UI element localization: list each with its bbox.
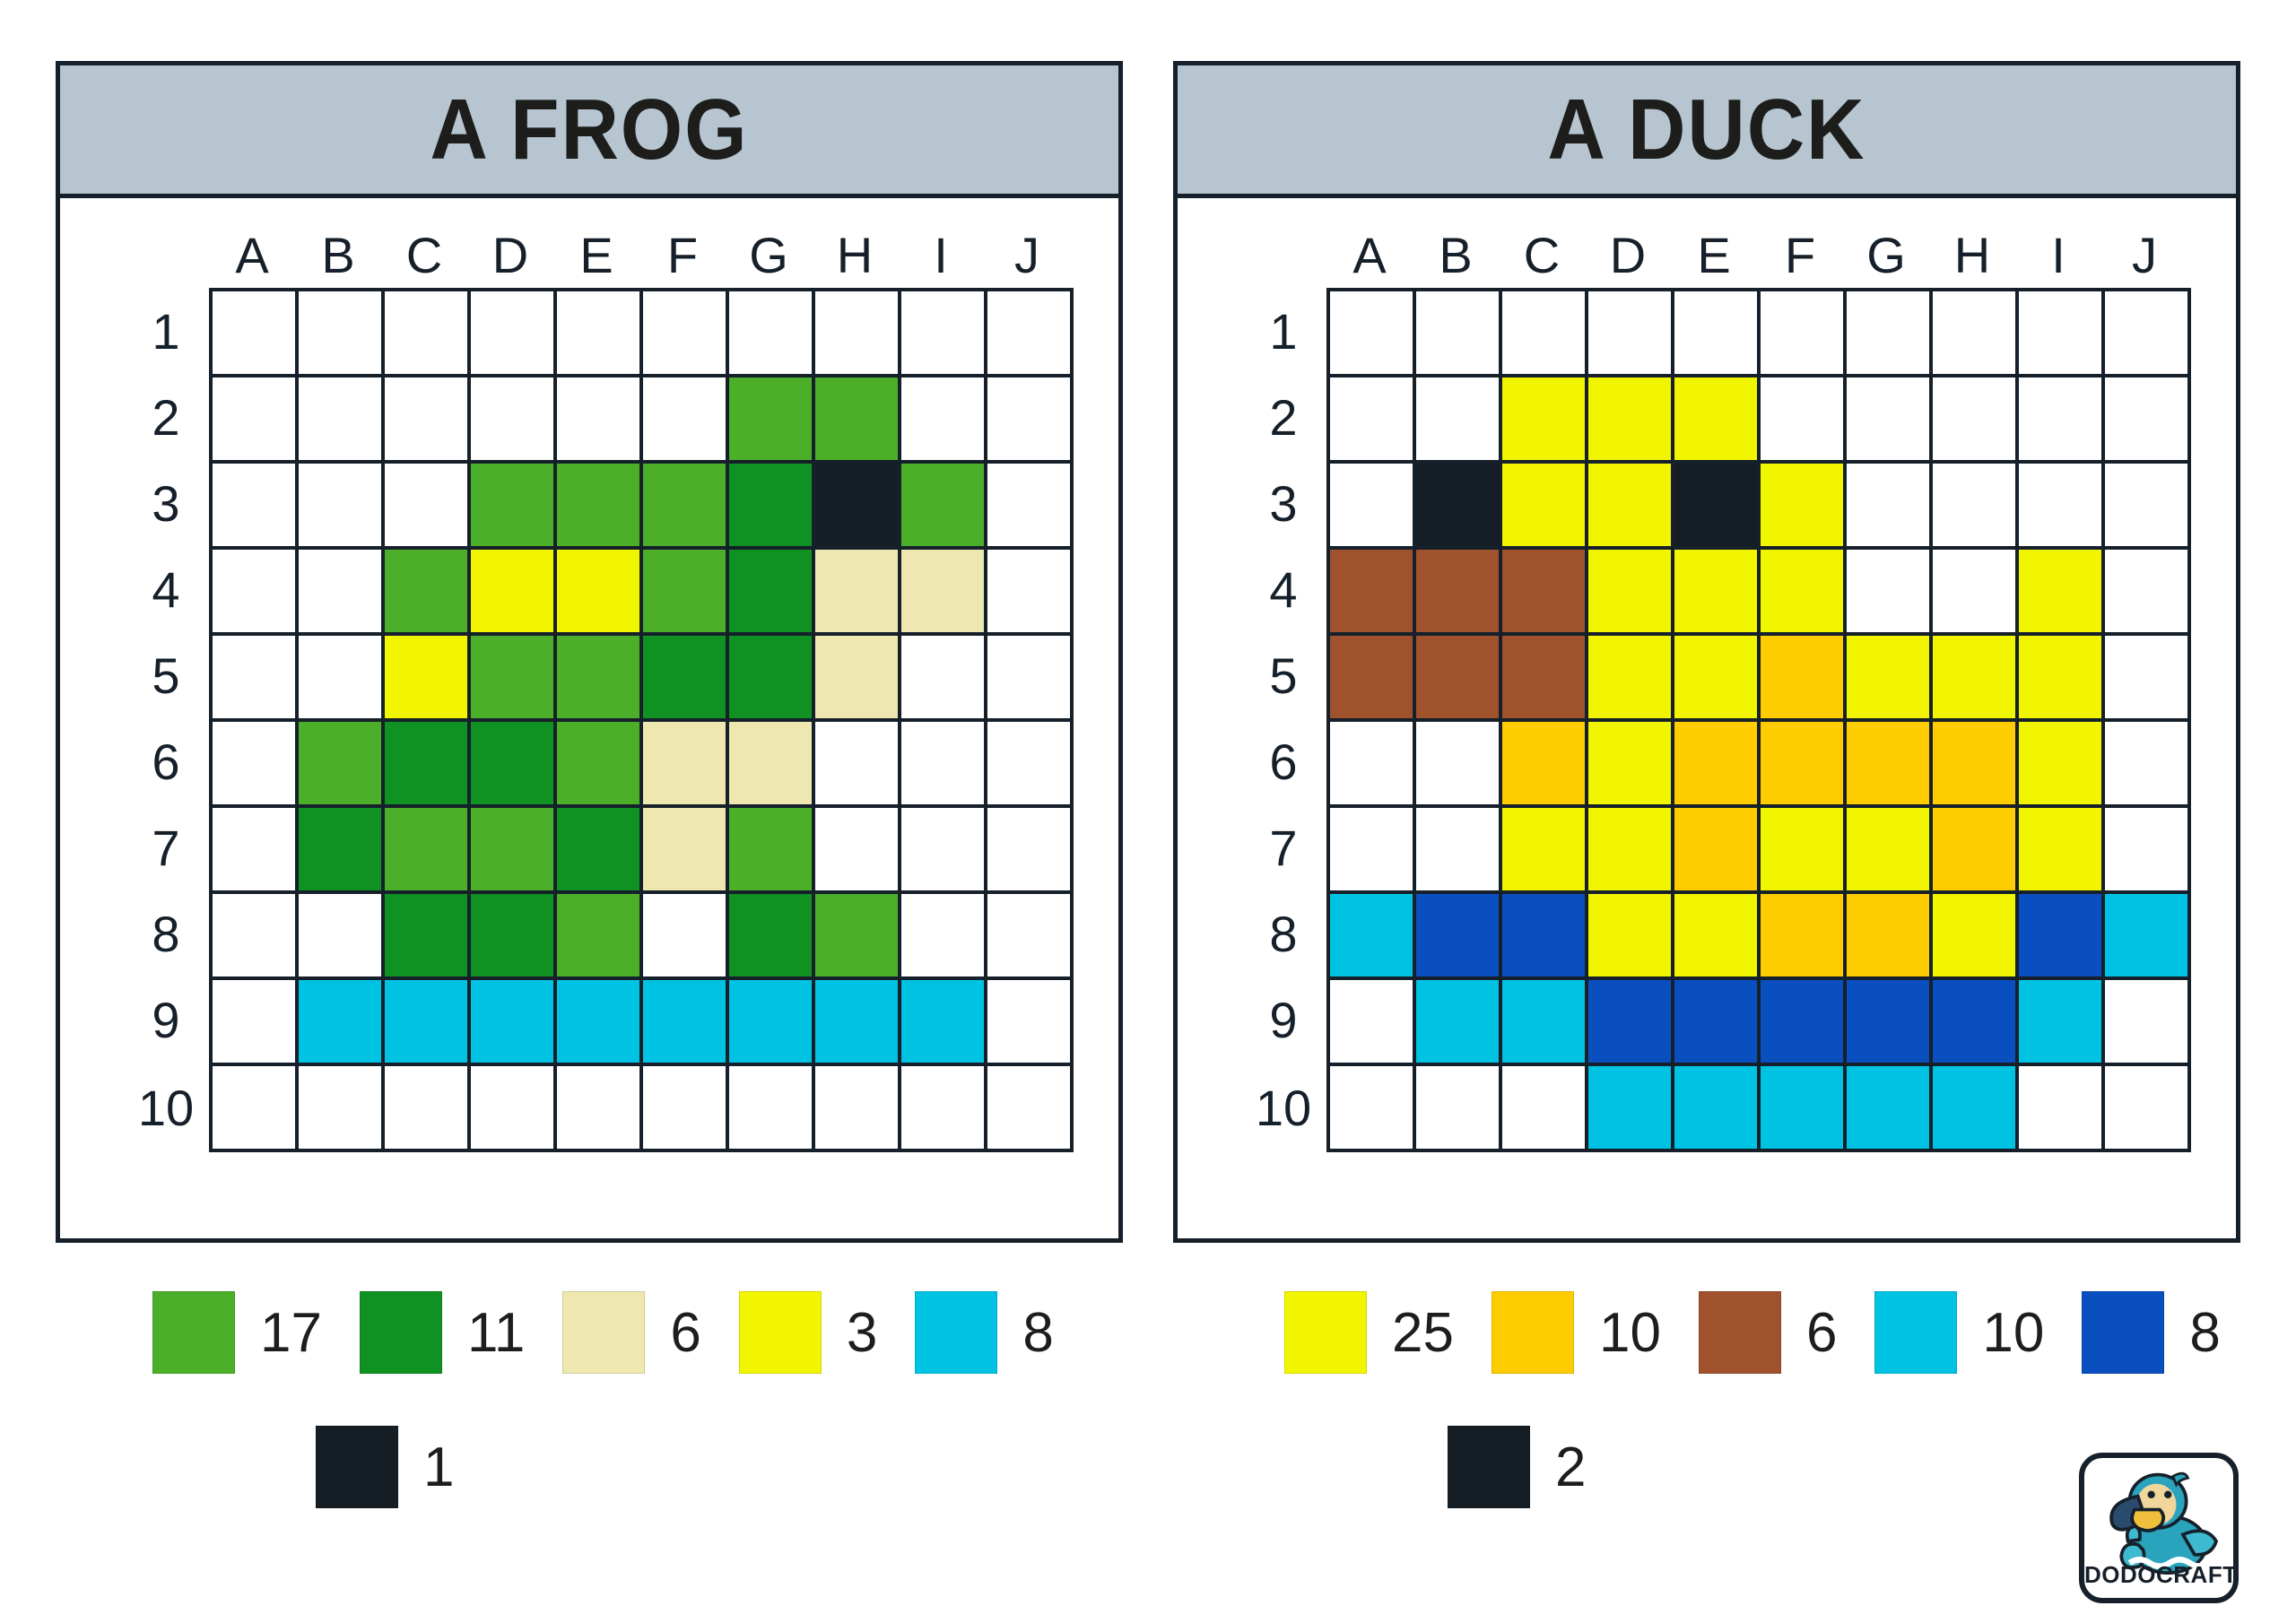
grid-row-cells — [1326, 546, 2191, 632]
grid-cell-H5[interactable] — [815, 636, 901, 718]
grid-cell-E6[interactable] — [557, 722, 643, 804]
column-header-frog-C: C — [381, 226, 467, 284]
grid-cell-H9[interactable] — [815, 980, 901, 1063]
grid-cell-G8[interactable] — [729, 894, 815, 976]
grid-cell-C8[interactable] — [1502, 894, 1588, 976]
grid-cell-H2[interactable] — [1933, 378, 2019, 460]
grid-cell-A7[interactable] — [1330, 808, 1416, 890]
logo-wordmark: DODOCRAFT — [2084, 1561, 2233, 1589]
grid-cell-B10[interactable] — [299, 1066, 385, 1149]
grid-cell-I2[interactable] — [2019, 378, 2105, 460]
grid-cell-A1[interactable] — [213, 291, 299, 374]
grid-cell-A5[interactable] — [1330, 636, 1416, 718]
grid-cell-C10[interactable] — [385, 1066, 471, 1149]
grid-cell-G6[interactable] — [1847, 722, 1933, 804]
grid-cell-D2[interactable] — [471, 378, 557, 460]
grid-cell-D2[interactable] — [1588, 378, 1674, 460]
legend-item: 2 — [1448, 1426, 1586, 1508]
grid-cell-E9[interactable] — [1674, 980, 1761, 1063]
grid-cell-I6[interactable] — [901, 722, 987, 804]
grid-cell-F7[interactable] — [1761, 808, 1847, 890]
grid-cell-A8[interactable] — [213, 894, 299, 976]
grid-cell-A3[interactable] — [1330, 464, 1416, 546]
grid-cell-G5[interactable] — [1847, 636, 1933, 718]
legend-swatch-black — [1448, 1426, 1530, 1508]
grid-cell-I9[interactable] — [901, 980, 987, 1063]
grid-cell-D5[interactable] — [1588, 636, 1674, 718]
legend-count: 8 — [2189, 1301, 2220, 1365]
grid-cell-E5[interactable] — [557, 636, 643, 718]
grid-cell-B3[interactable] — [1416, 464, 1502, 546]
grid-row-cells — [209, 374, 1074, 460]
column-header-frog-H: H — [812, 226, 898, 284]
legend-count: 10 — [1982, 1301, 2044, 1365]
grid-row-cells — [209, 288, 1074, 374]
grid-cell-B7[interactable] — [1416, 808, 1502, 890]
legend-swatch-gold — [1492, 1291, 1574, 1374]
legend-swatch-cyan — [915, 1291, 997, 1374]
grid-cell-J10[interactable] — [987, 1066, 1074, 1149]
grid-cell-J8[interactable] — [2105, 894, 2191, 976]
row-header-frog-2: 2 — [123, 374, 209, 460]
grid-row: 5 — [123, 632, 1074, 718]
grid-cell-H10[interactable] — [815, 1066, 901, 1149]
legend-row-frog-primary: 1711638 — [152, 1291, 1091, 1374]
grid-cell-C3[interactable] — [385, 464, 471, 546]
grid-cell-H6[interactable] — [815, 722, 901, 804]
legend-count: 8 — [1022, 1301, 1053, 1365]
row-header-frog-6: 6 — [123, 718, 209, 804]
grid-cell-F10[interactable] — [1761, 1066, 1847, 1149]
grid-cell-D5[interactable] — [471, 636, 557, 718]
grid-cell-A9[interactable] — [1330, 980, 1416, 1063]
grid-cell-D8[interactable] — [471, 894, 557, 976]
row-header-frog-10: 10 — [123, 1063, 209, 1152]
grid-cell-A9[interactable] — [213, 980, 299, 1063]
grid-cell-H4[interactable] — [815, 550, 901, 632]
grid-row-cells — [209, 718, 1074, 804]
grid-cell-B5[interactable] — [1416, 636, 1502, 718]
grid-cell-E7[interactable] — [557, 808, 643, 890]
grid-rows-frog: 12345678910 — [123, 288, 1074, 1152]
grid-cell-G4[interactable] — [1847, 550, 1933, 632]
legend-count: 1 — [423, 1436, 454, 1499]
grid-cell-I9[interactable] — [2019, 980, 2105, 1063]
grid-cell-J1[interactable] — [987, 291, 1074, 374]
grid-cell-F1[interactable] — [643, 291, 729, 374]
grid-cell-C2[interactable] — [385, 378, 471, 460]
grid-cell-A8[interactable] — [1330, 894, 1416, 976]
grid-row-cells — [209, 804, 1074, 890]
grid-cell-F4[interactable] — [1761, 550, 1847, 632]
grid-cell-H1[interactable] — [815, 291, 901, 374]
card-title-duck: A DUCK — [1178, 65, 2236, 198]
pixel-grid-duck: ABCDEFGHIJ 12345678910 — [1240, 221, 2191, 1152]
legend-row-duck-primary: 25106108 — [1284, 1291, 2258, 1374]
grid-cell-B9[interactable] — [299, 980, 385, 1063]
legend-swatch-yellow — [1284, 1291, 1367, 1374]
legend-item: 6 — [562, 1291, 700, 1374]
row-header-frog-3: 3 — [123, 460, 209, 546]
legend-count: 3 — [847, 1301, 877, 1365]
grid-cell-B2[interactable] — [299, 378, 385, 460]
grid-cell-B1[interactable] — [1416, 291, 1502, 374]
grid-cell-J10[interactable] — [2105, 1066, 2191, 1149]
grid-cell-I1[interactable] — [901, 291, 987, 374]
grid-cell-C1[interactable] — [385, 291, 471, 374]
grid-cell-H6[interactable] — [1933, 722, 2019, 804]
grid-cell-C3[interactable] — [1502, 464, 1588, 546]
grid-cell-E1[interactable] — [557, 291, 643, 374]
column-header-frog-D: D — [467, 226, 553, 284]
grid-cell-F5[interactable] — [1761, 636, 1847, 718]
grid-cell-G7[interactable] — [729, 808, 815, 890]
grid-cell-D7[interactable] — [471, 808, 557, 890]
grid-cell-I2[interactable] — [901, 378, 987, 460]
grid-cell-J4[interactable] — [987, 550, 1074, 632]
column-header-frog-E: E — [553, 226, 639, 284]
grid-cell-E5[interactable] — [1674, 636, 1761, 718]
grid-cell-F3[interactable] — [643, 464, 729, 546]
grid-cell-I8[interactable] — [901, 894, 987, 976]
grid-cell-J3[interactable] — [2105, 464, 2191, 546]
grid-cell-H1[interactable] — [1933, 291, 2019, 374]
grid-cell-B1[interactable] — [299, 291, 385, 374]
legend-count: 17 — [260, 1301, 322, 1365]
legend-count: 11 — [467, 1301, 525, 1365]
grid-cell-G1[interactable] — [1847, 291, 1933, 374]
legend-item: 10 — [1492, 1291, 1661, 1374]
grid-cell-D1[interactable] — [471, 291, 557, 374]
grid-cell-E3[interactable] — [1674, 464, 1761, 546]
grid-cell-B8[interactable] — [1416, 894, 1502, 976]
pixel-grid-frog: ABCDEFGHIJ 12345678910 — [123, 221, 1074, 1152]
grid-cell-I5[interactable] — [2019, 636, 2105, 718]
grid-cell-E7[interactable] — [1674, 808, 1761, 890]
column-header-duck-D: D — [1585, 226, 1671, 284]
grid-row-cells — [1326, 1063, 2191, 1152]
legend-count: 6 — [670, 1301, 700, 1365]
grid-cell-A6[interactable] — [1330, 722, 1416, 804]
grid-cell-H5[interactable] — [1933, 636, 2019, 718]
dodocraft-logo: DODOCRAFT — [2079, 1453, 2239, 1603]
grid-cell-D9[interactable] — [471, 980, 557, 1063]
grid-cell-G9[interactable] — [729, 980, 815, 1063]
grid-cell-G8[interactable] — [1847, 894, 1933, 976]
legend-item: 25 — [1284, 1291, 1454, 1374]
grid-row: 6 — [123, 718, 1074, 804]
row-header-duck-10: 10 — [1240, 1063, 1326, 1152]
grid-cell-H8[interactable] — [1933, 894, 2019, 976]
legend-swatch-yellow — [739, 1291, 822, 1374]
grid-cell-I7[interactable] — [2019, 808, 2105, 890]
grid-cell-B3[interactable] — [299, 464, 385, 546]
grid-cell-F6[interactable] — [1761, 722, 1847, 804]
grid-row: 8 — [1240, 890, 2191, 976]
grid-cell-A10[interactable] — [1330, 1066, 1416, 1149]
grid-cell-I4[interactable] — [901, 550, 987, 632]
grid-cell-G2[interactable] — [729, 378, 815, 460]
grid-cell-C7[interactable] — [1502, 808, 1588, 890]
grid-cell-A2[interactable] — [213, 378, 299, 460]
grid-cell-E6[interactable] — [1674, 722, 1761, 804]
grid-cell-C6[interactable] — [385, 722, 471, 804]
grid-cell-D8[interactable] — [1588, 894, 1674, 976]
grid-cell-G5[interactable] — [729, 636, 815, 718]
grid-cell-B9[interactable] — [1416, 980, 1502, 1063]
row-header-duck-4: 4 — [1240, 546, 1326, 632]
grid-cell-F6[interactable] — [643, 722, 729, 804]
column-header-duck-G: G — [1843, 226, 1929, 284]
grid-row: 4 — [123, 546, 1074, 632]
grid-cell-J6[interactable] — [987, 722, 1074, 804]
grid-cell-I6[interactable] — [2019, 722, 2105, 804]
row-header-duck-7: 7 — [1240, 804, 1326, 890]
grid-cell-B10[interactable] — [1416, 1066, 1502, 1149]
grid-cell-F2[interactable] — [643, 378, 729, 460]
grid-cell-D4[interactable] — [1588, 550, 1674, 632]
grid-cell-F10[interactable] — [643, 1066, 729, 1149]
grid-row: 10 — [123, 1063, 1074, 1152]
grid-cell-H4[interactable] — [1933, 550, 2019, 632]
column-header-frog-F: F — [639, 226, 726, 284]
grid-cell-E3[interactable] — [557, 464, 643, 546]
grid-cell-G3[interactable] — [1847, 464, 1933, 546]
grid-cell-J1[interactable] — [2105, 291, 2191, 374]
grid-cell-F9[interactable] — [643, 980, 729, 1063]
grid-cell-C5[interactable] — [385, 636, 471, 718]
grid-cell-A10[interactable] — [213, 1066, 299, 1149]
grid-cell-J5[interactable] — [2105, 636, 2191, 718]
grid-cell-G10[interactable] — [1847, 1066, 1933, 1149]
grid-cell-I10[interactable] — [901, 1066, 987, 1149]
legend-swatch-blue — [2082, 1291, 2164, 1374]
grid-cell-J2[interactable] — [987, 378, 1074, 460]
puzzle-title-duck: A DUCK — [1547, 81, 1865, 179]
grid-cell-D7[interactable] — [1588, 808, 1674, 890]
grid-cell-G1[interactable] — [729, 291, 815, 374]
grid-cell-I1[interactable] — [2019, 291, 2105, 374]
row-header-frog-7: 7 — [123, 804, 209, 890]
grid-cell-I7[interactable] — [901, 808, 987, 890]
grid-cell-E2[interactable] — [557, 378, 643, 460]
grid-cell-A1[interactable] — [1330, 291, 1416, 374]
grid-cell-H10[interactable] — [1933, 1066, 2019, 1149]
grid-cell-J9[interactable] — [987, 980, 1074, 1063]
grid-cell-J3[interactable] — [987, 464, 1074, 546]
grid-cell-B8[interactable] — [299, 894, 385, 976]
grid-cell-F3[interactable] — [1761, 464, 1847, 546]
grid-cell-B5[interactable] — [299, 636, 385, 718]
grid-cell-C9[interactable] — [1502, 980, 1588, 1063]
grid-cell-A6[interactable] — [213, 722, 299, 804]
grid-row: 5 — [1240, 632, 2191, 718]
grid-cell-G2[interactable] — [1847, 378, 1933, 460]
puzzle-panels: A FROG ABCDEFGHIJ 12345678910 A DUCK ABC… — [0, 0, 2296, 1273]
legend-frog: 1711638 1 — [152, 1291, 1091, 1508]
grid-cell-B2[interactable] — [1416, 378, 1502, 460]
grid-cell-G4[interactable] — [729, 550, 815, 632]
column-header-frog-G: G — [726, 226, 812, 284]
grid-cell-D3[interactable] — [471, 464, 557, 546]
card-body-duck: ABCDEFGHIJ 12345678910 — [1178, 198, 2236, 1238]
grid-cell-G3[interactable] — [729, 464, 815, 546]
column-header-duck-H: H — [1929, 226, 2015, 284]
logo-frame: DODOCRAFT — [2079, 1453, 2239, 1603]
grid-row-cells — [209, 1063, 1074, 1152]
grid-cell-D1[interactable] — [1588, 291, 1674, 374]
grid-cell-J5[interactable] — [987, 636, 1074, 718]
legend-item: 8 — [2082, 1291, 2220, 1374]
grid-cell-A7[interactable] — [213, 808, 299, 890]
puzzle-card-duck: A DUCK ABCDEFGHIJ 12345678910 — [1173, 61, 2240, 1243]
grid-cell-J7[interactable] — [987, 808, 1074, 890]
grid-cell-C2[interactable] — [1502, 378, 1588, 460]
grid-cell-A4[interactable] — [213, 550, 299, 632]
grid-cell-H3[interactable] — [1933, 464, 2019, 546]
grid-cell-E4[interactable] — [1674, 550, 1761, 632]
grid-cell-E9[interactable] — [557, 980, 643, 1063]
grid-row: 7 — [1240, 804, 2191, 890]
grid-cell-F8[interactable] — [1761, 894, 1847, 976]
grid-cell-C4[interactable] — [385, 550, 471, 632]
grid-cell-C7[interactable] — [385, 808, 471, 890]
grid-cell-G7[interactable] — [1847, 808, 1933, 890]
grid-cell-I8[interactable] — [2019, 894, 2105, 976]
grid-cell-G9[interactable] — [1847, 980, 1933, 1063]
grid-cell-I5[interactable] — [901, 636, 987, 718]
legend-item: 10 — [1874, 1291, 2044, 1374]
grid-cell-H7[interactable] — [815, 808, 901, 890]
grid-cell-G10[interactable] — [729, 1066, 815, 1149]
row-header-duck-3: 3 — [1240, 460, 1326, 546]
grid-cell-E2[interactable] — [1674, 378, 1761, 460]
grid-row: 7 — [123, 804, 1074, 890]
grid-rows-duck: 12345678910 — [1240, 288, 2191, 1152]
grid-cell-E4[interactable] — [557, 550, 643, 632]
legend-item: 1 — [316, 1426, 454, 1508]
grid-row-cells — [209, 460, 1074, 546]
grid-cell-A2[interactable] — [1330, 378, 1416, 460]
grid-cell-C9[interactable] — [385, 980, 471, 1063]
grid-cell-H9[interactable] — [1933, 980, 2019, 1063]
legend-count: 25 — [1392, 1301, 1454, 1365]
grid-cell-D6[interactable] — [471, 722, 557, 804]
grid-cell-I10[interactable] — [2019, 1066, 2105, 1149]
grid-cell-H8[interactable] — [815, 894, 901, 976]
grid-cell-G6[interactable] — [729, 722, 815, 804]
grid-cell-F9[interactable] — [1761, 980, 1847, 1063]
grid-cell-B6[interactable] — [1416, 722, 1502, 804]
grid-row: 1 — [123, 288, 1074, 374]
grid-cell-B6[interactable] — [299, 722, 385, 804]
column-header-frog-B: B — [295, 226, 381, 284]
row-header-duck-6: 6 — [1240, 718, 1326, 804]
grid-cell-I3[interactable] — [2019, 464, 2105, 546]
grid-cell-D9[interactable] — [1588, 980, 1674, 1063]
grid-row-cells — [1326, 976, 2191, 1063]
legend-swatch-brown — [1699, 1291, 1781, 1374]
grid-cell-C1[interactable] — [1502, 291, 1588, 374]
grid-cell-H7[interactable] — [1933, 808, 2019, 890]
grid-cell-F8[interactable] — [643, 894, 729, 976]
grid-cell-E10[interactable] — [1674, 1066, 1761, 1149]
grid-cell-E1[interactable] — [1674, 291, 1761, 374]
grid-cell-J6[interactable] — [2105, 722, 2191, 804]
grid-cell-C4[interactable] — [1502, 550, 1588, 632]
puzzle-title-frog: A FROG — [430, 81, 748, 179]
grid-cell-D10[interactable] — [1588, 1066, 1674, 1149]
puzzle-card-frog: A FROG ABCDEFGHIJ 12345678910 — [56, 61, 1123, 1243]
grid-row: 9 — [1240, 976, 2191, 1063]
grid-cell-E10[interactable] — [557, 1066, 643, 1149]
grid-cell-D6[interactable] — [1588, 722, 1674, 804]
grid-cell-D3[interactable] — [1588, 464, 1674, 546]
grid-row-cells — [1326, 890, 2191, 976]
grid-cell-F4[interactable] — [643, 550, 729, 632]
grid-cell-C10[interactable] — [1502, 1066, 1588, 1149]
grid-cell-A5[interactable] — [213, 636, 299, 718]
grid-cell-J9[interactable] — [2105, 980, 2191, 1063]
grid-cell-C5[interactable] — [1502, 636, 1588, 718]
grid-cell-I4[interactable] — [2019, 550, 2105, 632]
row-header-duck-5: 5 — [1240, 632, 1326, 718]
grid-cell-D4[interactable] — [471, 550, 557, 632]
grid-cell-J2[interactable] — [2105, 378, 2191, 460]
grid-cell-E8[interactable] — [557, 894, 643, 976]
grid-cell-A3[interactable] — [213, 464, 299, 546]
grid-cell-C8[interactable] — [385, 894, 471, 976]
grid-cell-C6[interactable] — [1502, 722, 1588, 804]
row-header-duck-8: 8 — [1240, 890, 1326, 976]
grid-row: 3 — [1240, 460, 2191, 546]
grid-row-cells — [209, 976, 1074, 1063]
grid-row-cells — [1326, 632, 2191, 718]
legend-item: 11 — [360, 1291, 525, 1374]
grid-cell-B7[interactable] — [299, 808, 385, 890]
grid-cell-F2[interactable] — [1761, 378, 1847, 460]
grid-row-cells — [1326, 288, 2191, 374]
card-title-frog: A FROG — [60, 65, 1118, 198]
grid-cell-D10[interactable] — [471, 1066, 557, 1149]
grid-row: 2 — [123, 374, 1074, 460]
grid-cell-J8[interactable] — [987, 894, 1074, 976]
grid-cell-J7[interactable] — [2105, 808, 2191, 890]
grid-cell-E8[interactable] — [1674, 894, 1761, 976]
grid-cell-I3[interactable] — [901, 464, 987, 546]
grid-cell-B4[interactable] — [299, 550, 385, 632]
grid-cell-F7[interactable] — [643, 808, 729, 890]
grid-row: 2 — [1240, 374, 2191, 460]
legend-item: 17 — [152, 1291, 322, 1374]
grid-cell-A4[interactable] — [1330, 550, 1416, 632]
grid-row: 8 — [123, 890, 1074, 976]
grid-cell-H2[interactable] — [815, 378, 901, 460]
row-header-frog-8: 8 — [123, 890, 209, 976]
grid-row-cells — [1326, 718, 2191, 804]
grid-cell-F5[interactable] — [643, 636, 729, 718]
grid-row-cells — [1326, 804, 2191, 890]
row-header-frog-4: 4 — [123, 546, 209, 632]
grid-row-cells — [209, 890, 1074, 976]
grid-row: 9 — [123, 976, 1074, 1063]
column-header-duck-A: A — [1326, 226, 1413, 284]
column-header-duck-C: C — [1499, 226, 1585, 284]
grid-cell-F1[interactable] — [1761, 291, 1847, 374]
grid-cell-J4[interactable] — [2105, 550, 2191, 632]
grid-cell-H3[interactable] — [815, 464, 901, 546]
grid-cell-B4[interactable] — [1416, 550, 1502, 632]
